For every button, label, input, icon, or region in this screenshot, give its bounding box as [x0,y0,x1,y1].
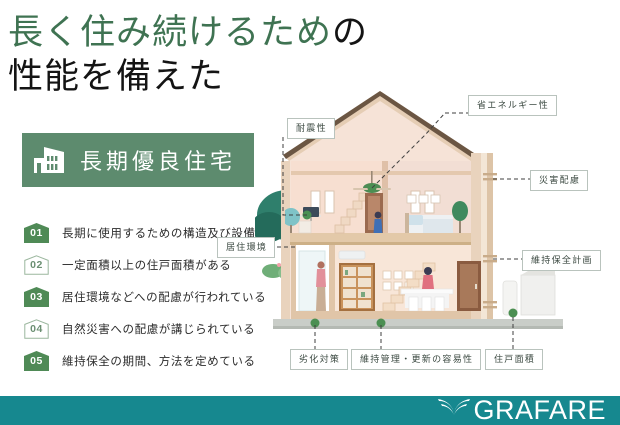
list-item-number: 04 [24,319,49,339]
marker-floor-area [509,309,518,318]
wall-art [407,195,440,203]
list-item: 05 維持保全の期間、方法を定めている [24,350,274,371]
callout-seismic: 耐震性 [287,118,335,139]
list-item: 03 居住環境などへの配慮が行われている [24,286,274,307]
interior-door [457,261,481,311]
callout-degradation: 劣化対策 [290,349,348,370]
kitchen-counter [401,289,453,311]
callout-maintenance-plan: 維持保全計画 [522,250,601,271]
certification-badge: 長期優良住宅 [22,133,254,187]
list-item-number: 05 [24,351,49,371]
callout-living-env: 居住環境 [217,237,275,258]
bed [405,213,453,233]
list-item-label: 一定面積以上の住戸面積がある [62,257,231,273]
headline-line-1-black: の [332,13,368,52]
pentagon-number-icon: 04 [24,319,49,339]
pentagon-number-icon: 05 [24,351,49,371]
callout-energy: 省エネルギー性 [468,95,557,116]
list-item: 04 自然災害への配慮が講じられている [24,318,274,339]
pentagon-number-icon: 01 [24,223,49,243]
list-item-number: 01 [24,223,49,243]
list-item-number: 03 [24,287,49,307]
leaf-wings-icon [437,397,471,424]
list-item-label: 自然災害への配慮が講じられている [62,321,255,337]
callout-floor-area: 住戸面積 [485,349,543,370]
list-item-label: 維持保全の期間、方法を定めている [62,353,256,369]
promo-poster: 長く住み続けるための 性能を備えた 長期優良住宅 01 [0,0,620,425]
callout-upkeep: 維持管理・更新の容易性 [351,349,481,370]
bookshelf [339,263,375,311]
pentagon-number-icon: 03 [24,287,49,307]
footer-bar: GRAFARE [0,396,620,425]
list-item-number: 02 [24,255,49,275]
air-conditioner [339,251,365,259]
lower-floor-interior [291,245,481,319]
headline-line-1: 長く住み続けるための [8,12,308,54]
house-cutaway-illustration: 省エネルギー性 耐震性 災害配慮 維持保全計画 居住環境 劣化対策 維持管理・更… [255,75,620,365]
callout-disaster: 災害配慮 [530,170,588,191]
headline-line-1-green: 長く住み続けるため [8,13,332,52]
person-upper [374,212,383,233]
floor-divider [289,233,471,242]
upper-floor-interior [282,161,471,233]
brand-logo: GRAFARE [437,395,606,425]
house-building-icon [22,133,80,187]
water-heater [503,267,555,315]
certification-badge-label: 長期優良住宅 [80,144,236,176]
list-item-label: 居住環境などへの配慮が行われている [62,289,266,305]
pentagon-number-icon: 02 [24,255,49,275]
brand-wordmark: GRAFARE [473,395,606,425]
